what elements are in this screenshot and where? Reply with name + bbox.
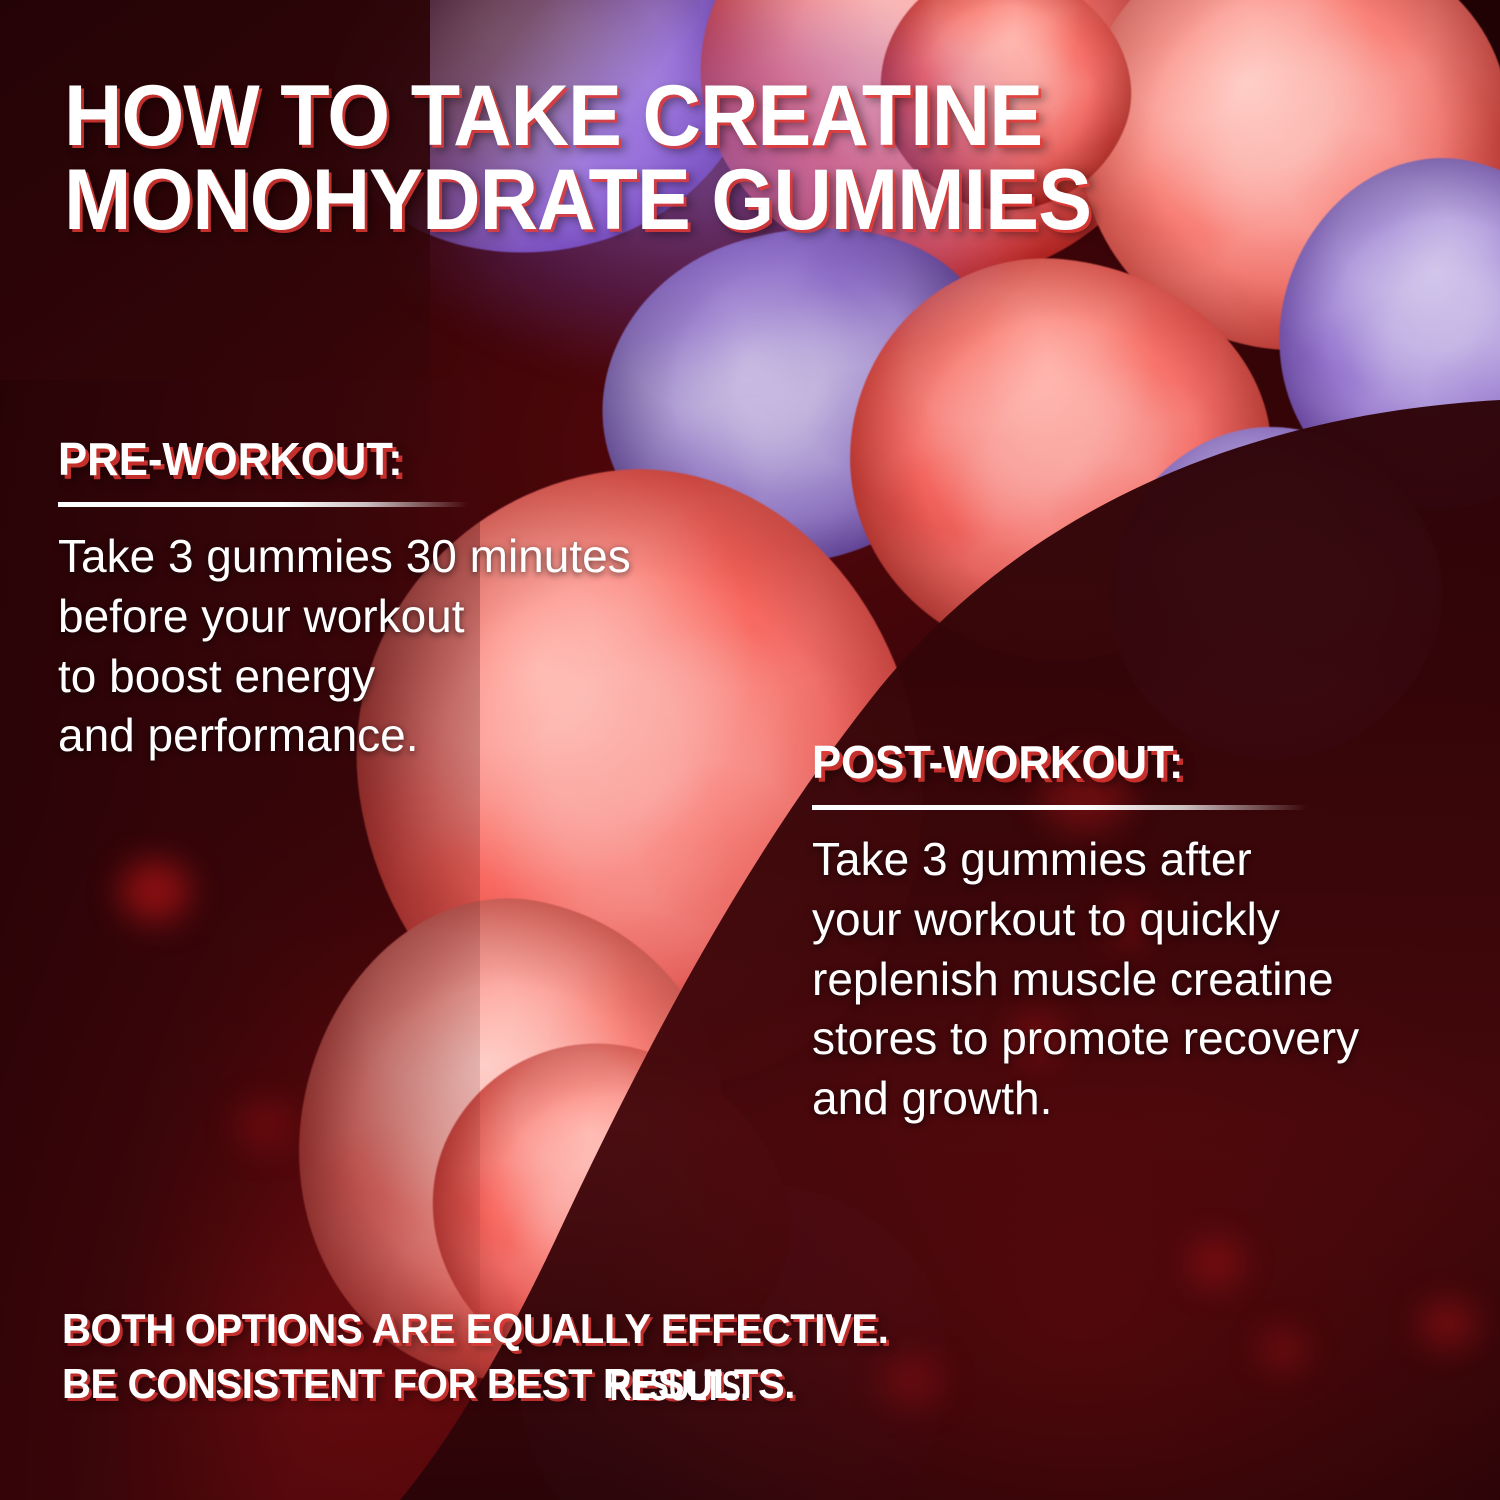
section-pre-workout: PRE-WORKOUT: Take 3 gummies 30 minutes b… — [58, 432, 758, 766]
bokeh-dot — [1420, 1300, 1476, 1348]
heading-underline — [58, 502, 468, 507]
footer-line-2: BE CONSISTENT FOR BEST RESULTS.RESULTS. — [62, 1357, 1392, 1412]
footer-glitch-word: RESULTS.RESULTS. — [603, 1357, 795, 1412]
bokeh-dot — [120, 860, 190, 922]
section-body-pre-workout: Take 3 gummies 30 minutes before your wo… — [58, 527, 758, 766]
footer-line-1: BOTH OPTIONS ARE EQUALLY EFFECTIVE. — [62, 1302, 1392, 1357]
section-post-workout: POST-WORKOUT: Take 3 gummies after your … — [812, 735, 1472, 1129]
section-heading-post-workout: POST-WORKOUT: — [812, 735, 1439, 789]
poster-root: HOW TO TAKE CREATINE MONOHYDRATE GUMMIES… — [0, 0, 1500, 1500]
section-body-post-workout: Take 3 gummies after your workout to qui… — [812, 830, 1472, 1129]
section-heading-pre-workout: PRE-WORKOUT: — [58, 432, 723, 486]
page-title: HOW TO TAKE CREATINE MONOHYDRATE GUMMIES — [64, 74, 1380, 243]
footer-callout: BOTH OPTIONS ARE EQUALLY EFFECTIVE. BE C… — [62, 1302, 1392, 1411]
bokeh-dot — [1190, 1240, 1242, 1286]
bokeh-dot — [235, 1100, 295, 1150]
heading-underline — [812, 805, 1307, 810]
footer-glitch-layer-b: RESULTS. — [611, 1359, 749, 1414]
footer-line-2-prefix: BE CONSISTENT FOR BEST — [62, 1360, 603, 1407]
